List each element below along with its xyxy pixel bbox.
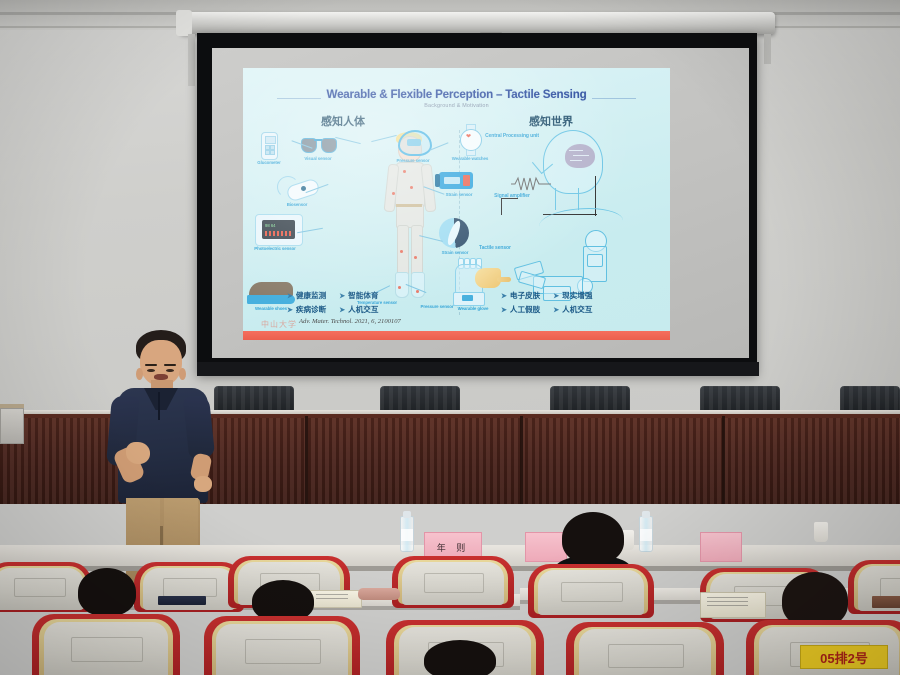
auditorium-seat[interactable] (32, 614, 180, 675)
bullet-row: ➤ 人工假肢 ➤ 人机交互 (501, 304, 593, 315)
glucometer-icon (261, 132, 278, 160)
sensor-dot (403, 170, 406, 173)
water-bottle (400, 516, 414, 552)
glove-chip (462, 295, 473, 301)
wristband-face (407, 139, 421, 146)
smart-glasses-icon (301, 136, 335, 151)
bullet-chevron-icon: ➤ (287, 292, 293, 300)
pointing-finger (497, 277, 511, 282)
strain-sensor-ring-icon (439, 218, 469, 248)
desk-panel-seam (305, 416, 308, 504)
module-cap (435, 174, 440, 187)
label-wearable-watches: Wearable watches (444, 156, 496, 161)
display-readout: 98 64 (265, 223, 275, 228)
figure-leg-left (397, 225, 409, 277)
lecture-hall-screenshot: Wearable & Flexible Perception – Tactile… (0, 0, 900, 675)
bullet-text: 智能体育 (348, 290, 378, 301)
pressure-wristband-icon (398, 130, 432, 156)
bullet-chevron-icon: ➤ (339, 306, 345, 314)
book-stack (872, 596, 900, 608)
open-notebook (700, 592, 766, 618)
roller-bracket-left (188, 34, 195, 86)
bullet-text: 人工假肢 (510, 304, 540, 315)
slide-title: Wearable & Flexible Perception – Tactile… (243, 88, 670, 101)
roller-bracket-right (764, 34, 771, 64)
sensor-dot (410, 186, 413, 189)
projector-screen-roller[interactable] (180, 12, 775, 34)
auditorium-seat[interactable] (528, 564, 654, 618)
sensor-dot (400, 250, 403, 253)
right-bullet-list: ➤ 电子皮肤 ➤ 现实增强 ➤ 人工假肢 ➤ 人机交互 (501, 290, 593, 318)
auditorium-seat[interactable] (566, 622, 724, 675)
sensor-dot (392, 192, 395, 195)
bullet-text: 人机交互 (562, 304, 592, 315)
bullet-chevron-icon: ➤ (339, 292, 345, 300)
pencil-case (358, 588, 400, 600)
projector-screen-bottom-bar (197, 362, 759, 376)
strain-sensor-module-icon (439, 172, 473, 189)
left-bullet-list: ➤ 健康监测 ➤ 智能体育 ➤ 疾病诊断 ➤ 人机交互 (287, 290, 379, 318)
bullet-text: 疾病诊断 (296, 304, 326, 315)
right-panel-heading: 感知世界 (529, 113, 573, 129)
sensor-display: 98 64 (262, 220, 295, 239)
label-glucometer: Glucometer (243, 160, 295, 165)
roller-end-cap (176, 10, 192, 36)
bullet-row: ➤ 电子皮肤 ➤ 现实增强 (501, 290, 593, 301)
heart-icon: ❤ (466, 133, 471, 140)
bullet-chevron-icon: ➤ (287, 306, 293, 314)
bullet-chevron-icon: ➤ (553, 292, 559, 300)
label-pressure-sensor-wrist: Pressure sensor (387, 158, 439, 163)
bullet-chevron-icon: ➤ (501, 306, 507, 314)
bullet-text: 人机交互 (348, 304, 378, 315)
sensor-dot (398, 286, 401, 289)
human-hand-illustration (475, 268, 501, 288)
bullet-text: 电子皮肤 (510, 290, 540, 301)
closed-notebook (158, 596, 206, 605)
left-panel-heading: 感知人体 (321, 113, 365, 129)
signal-waveform-icon (511, 176, 551, 192)
audience-head (424, 640, 496, 675)
figure-belt (396, 204, 422, 207)
audience-head (562, 512, 624, 564)
display-waveform (265, 231, 292, 236)
paper-cup (814, 522, 828, 542)
label-central-processing-unit: Central Processing unit (483, 134, 541, 140)
figure-sock-right (411, 272, 425, 298)
photoelectric-sensor-icon: 98 64 (255, 214, 303, 246)
desk-panel-seam (722, 416, 725, 504)
brain-illustration (565, 144, 595, 168)
label-tactile-sensor: Tactile sensor (479, 246, 519, 252)
label-biosensor: Biosensor (271, 202, 323, 207)
speaker-sleeve-right (183, 395, 215, 459)
slide-subtitle: Background & Motivation (243, 103, 670, 109)
water-bottle (639, 516, 653, 552)
open-notebook (310, 590, 362, 608)
university-watermark: 中山大学 (261, 319, 297, 330)
bullet-text: 健康监测 (296, 290, 326, 301)
bullet-chevron-icon: ➤ (501, 292, 507, 300)
bullet-text: 现实增强 (562, 290, 592, 301)
neck-outline (555, 188, 579, 210)
wall-mounted-box (0, 408, 24, 444)
desk-name-card (700, 532, 742, 562)
seat-number-label: 05排2号 (800, 645, 888, 669)
auditorium-seat[interactable] (204, 616, 360, 675)
wearable-watch-icon: ❤ (457, 124, 483, 154)
desk-panel-seam (520, 416, 523, 504)
auditorium-seat[interactable] (392, 556, 514, 608)
bullet-row: ➤ 疾病诊断 ➤ 人机交互 (287, 304, 379, 315)
sensor-dot (414, 256, 417, 259)
signal-path-elbow (501, 198, 518, 215)
slide-footer-bar (243, 331, 670, 340)
speaker-shirt-placket (158, 392, 160, 420)
module-window (444, 177, 460, 184)
desk-name-card (525, 532, 567, 562)
speaker-gesturing-hand (126, 442, 150, 464)
label-photoelectric-sensor: Photoelectric sensor (249, 246, 301, 251)
label-visual-sensor: Visual sensor (292, 156, 344, 161)
human-body-figure (383, 130, 435, 310)
audience-head (78, 568, 136, 616)
figure-leg-right (411, 225, 423, 277)
module-indicator (463, 175, 470, 186)
slide-citation: Adv. Mater. Technol. 2021, 6, 2100107 (299, 318, 401, 325)
biosensor-led (301, 186, 306, 191)
speaker-hand-right (194, 476, 212, 492)
label-strain-sensor-knee: Strain sensor (429, 250, 481, 255)
bullet-chevron-icon: ➤ (553, 306, 559, 314)
label-wearable-glove: Wearable glove (447, 306, 499, 311)
presentation-slide: Wearable & Flexible Perception – Tactile… (243, 68, 670, 340)
glucometer-screen (265, 136, 276, 144)
bullet-row: ➤ 健康监测 ➤ 智能体育 (287, 290, 379, 301)
